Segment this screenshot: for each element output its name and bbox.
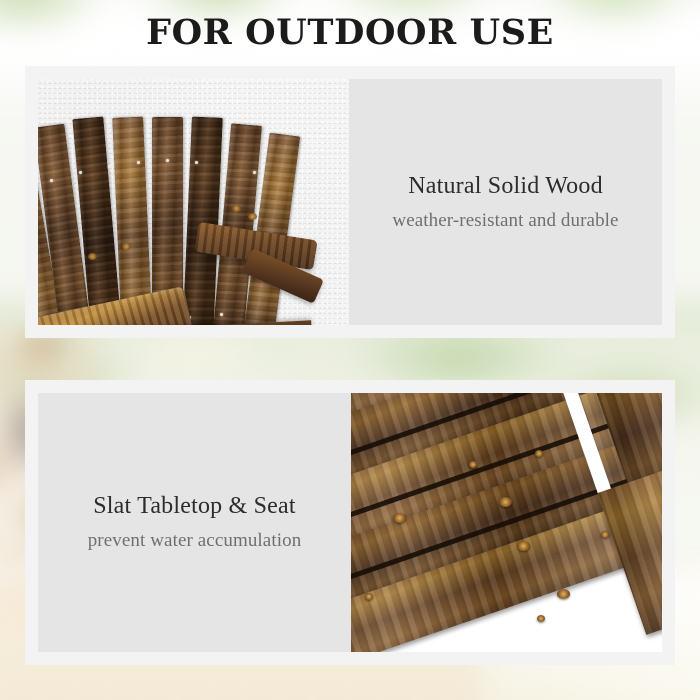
feature-heading-1: Natural Solid Wood (408, 172, 603, 201)
feature-subtitle-2: prevent water accumulation (88, 530, 302, 553)
feature-card-slat-tabletop-seat: Slat Tabletop & Seat prevent water accum… (25, 380, 675, 665)
feature-photo-slat-closeup (351, 393, 662, 652)
page-title: FOR OUTDOOR USE (146, 15, 554, 50)
wooden-bench-illustration (38, 113, 302, 325)
feature-card-inner: Natural Solid Wood weather-resistant and… (38, 79, 662, 325)
feature-card-natural-solid-wood: Natural Solid Wood weather-resistant and… (25, 66, 675, 338)
feature-subtitle-1: weather-resistant and durable (392, 210, 618, 233)
feature-card-inner: Slat Tabletop & Seat prevent water accum… (38, 393, 662, 652)
title-banner: FOR OUTDOOR USE (0, 0, 700, 64)
feature-text-block-2: Slat Tabletop & Seat prevent water accum… (38, 393, 351, 652)
feature-heading-2: Slat Tabletop & Seat (93, 492, 296, 521)
feature-photo-bench-backrest (38, 79, 349, 325)
feature-text-block-1: Natural Solid Wood weather-resistant and… (349, 79, 662, 325)
slat-closeup-illustration (351, 393, 662, 652)
